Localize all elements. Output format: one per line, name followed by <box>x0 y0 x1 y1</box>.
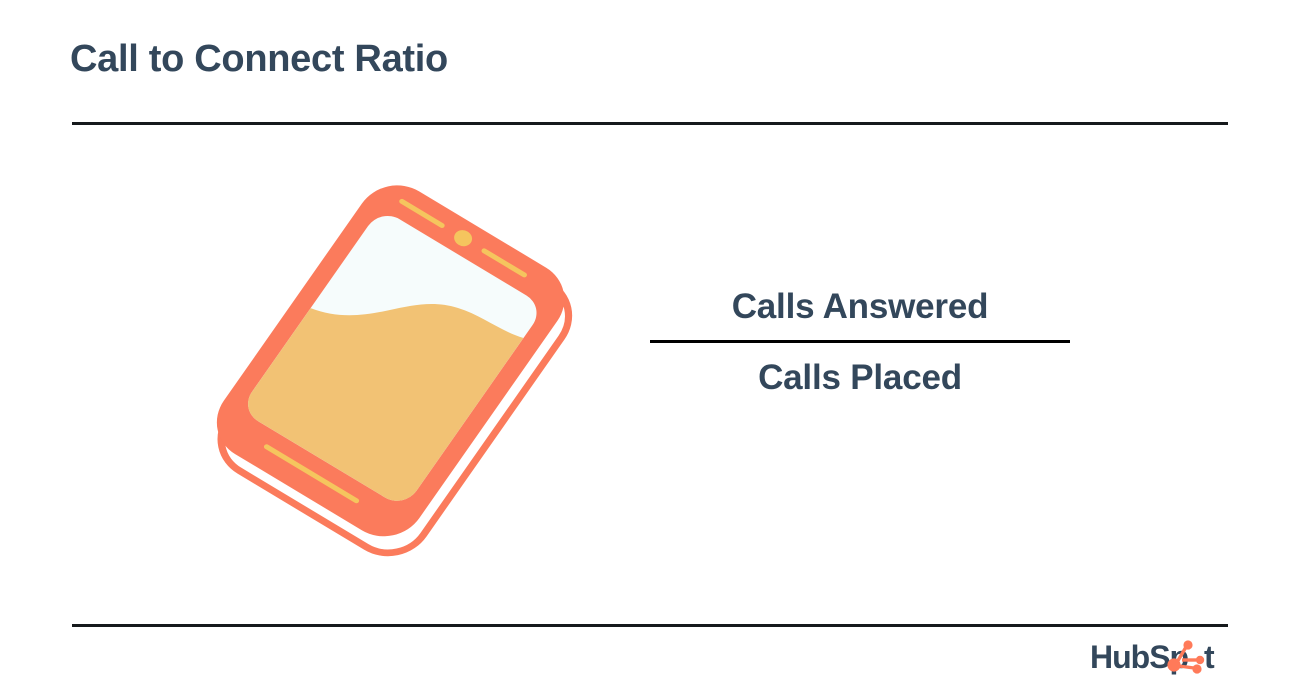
formula-division-bar <box>650 340 1070 343</box>
slide-canvas: Call to Connect Ratio <box>0 0 1300 700</box>
ratio-formula: Calls Answered Calls Placed <box>630 288 1090 397</box>
tilted-smartphone-illustration <box>160 175 640 565</box>
formula-denominator: Calls Placed <box>630 359 1090 397</box>
page-title: Call to Connect Ratio <box>70 38 448 81</box>
hubspot-logo: HubSp t <box>1090 636 1230 684</box>
footer-divider-rule <box>72 624 1228 627</box>
formula-numerator: Calls Answered <box>630 288 1090 326</box>
hubspot-logo-wordmark-right: t <box>1204 639 1215 675</box>
header-divider-rule <box>72 122 1228 125</box>
